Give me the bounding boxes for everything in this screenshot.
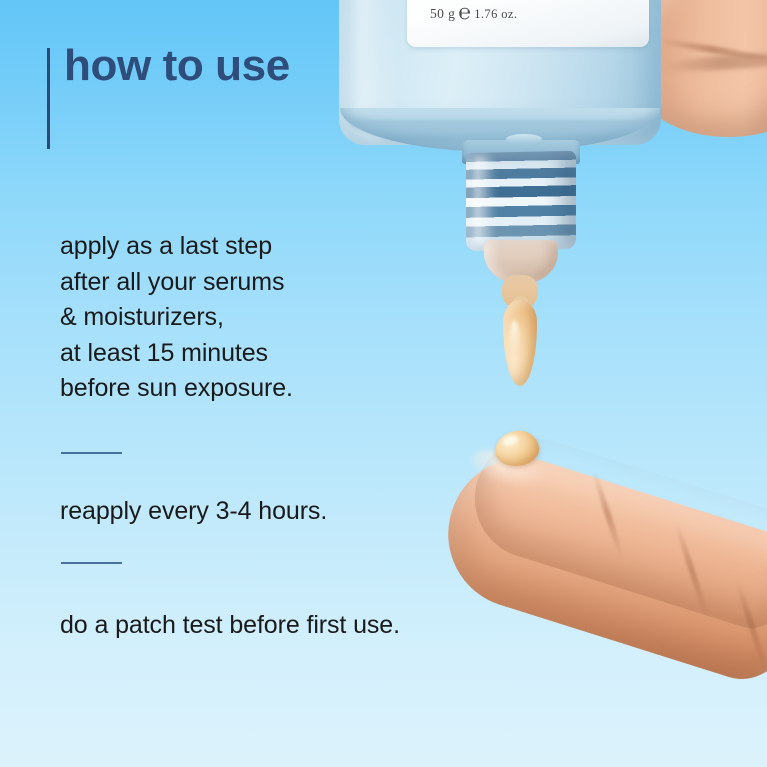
label-weight-metric: 50 g	[430, 6, 455, 21]
heading-accent-bar	[47, 48, 50, 149]
section-divider	[61, 562, 122, 564]
neck-highlight	[474, 156, 496, 246]
instruction-apply: apply as a last step after all your seru…	[60, 229, 460, 407]
droplet-highlight	[510, 320, 519, 354]
cream-droplet	[503, 300, 537, 386]
section-divider	[61, 452, 122, 454]
estimated-sign-icon: ℮	[458, 0, 471, 24]
instruction-reapply: reapply every 3-4 hours.	[60, 494, 500, 530]
index-finger	[429, 439, 767, 690]
label-weight-imperial: 1.76 oz.	[474, 7, 517, 21]
instruction-graphic: 50 g℮1.76 oz. how to use apply as a last…	[0, 0, 767, 767]
instruction-patch-test: do a patch test before first use.	[60, 608, 540, 644]
label-weight-text: 50 g℮1.76 oz.	[430, 0, 640, 25]
page-title: how to use	[64, 40, 364, 92]
